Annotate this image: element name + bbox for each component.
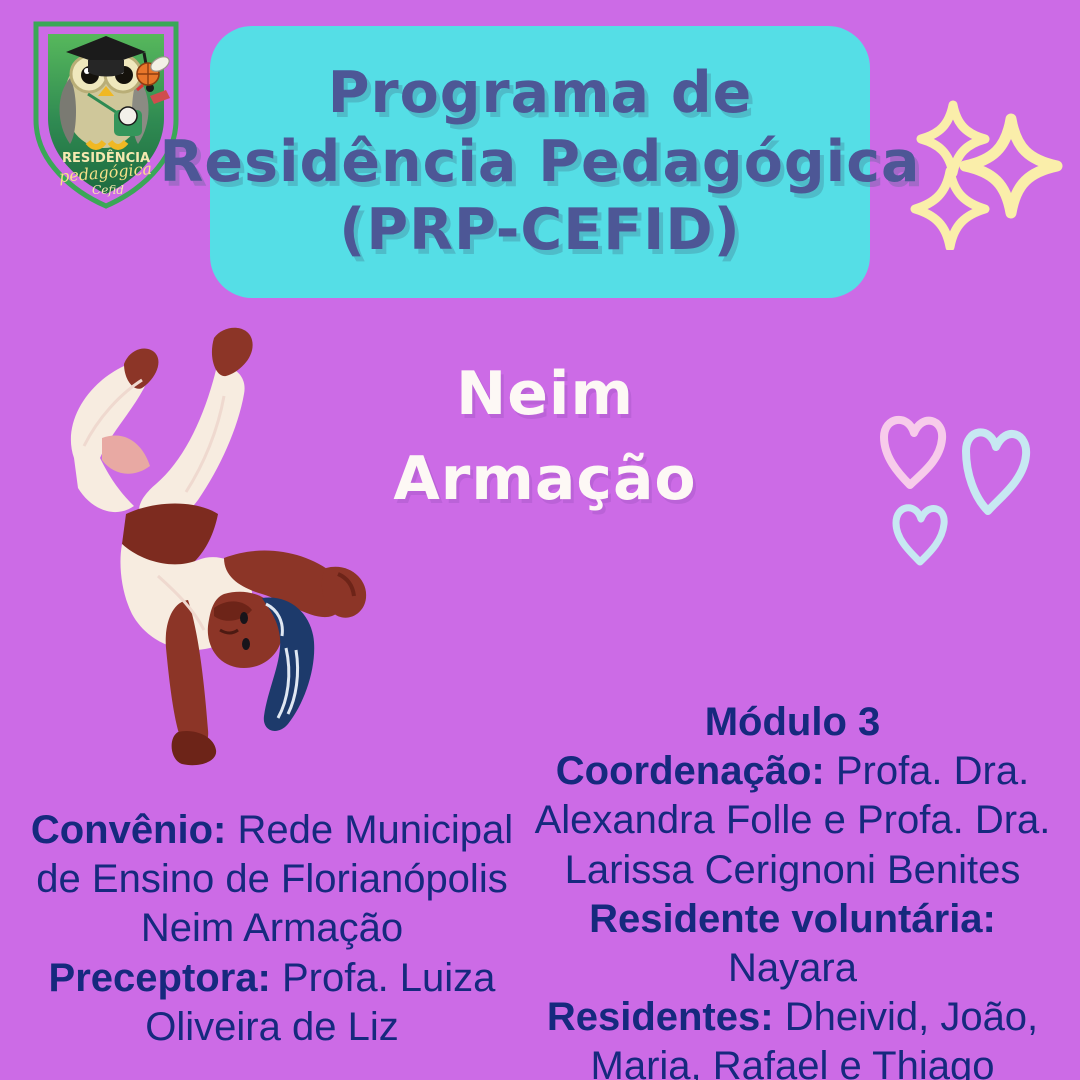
info-line-value: Oliveira de Liz [145,1005,398,1049]
info-block-left: Convênio: Rede Municipalde Ensino de Flo… [22,806,522,1052]
info-line: Preceptora: Profa. Luiza [22,954,522,1003]
dancer-leg-upper-right [139,367,244,523]
title-line-1: Programa de [160,59,921,127]
info-line-label: Preceptora: [49,956,271,1000]
subtitle: Neim Armação [330,352,760,522]
info-line-value: Profa. Luiza [271,956,496,1000]
info-line-value: Profa. Dra. [825,749,1030,793]
info-line-label: Residentes: [547,995,774,1039]
dancer-eye-upper [240,612,248,624]
sparkle-cluster-icon [905,95,1065,250]
info-line: Neim Armação [22,904,522,953]
sparkle-bottom-left-icon [915,171,985,247]
dancer-foot-right [212,328,253,376]
info-line-value: Rede Municipal [226,808,513,852]
info-line-value: Dheivid, João, [774,995,1039,1039]
title-line-2: Residência Pedagógica [160,128,921,196]
heart-pink-icon [884,420,942,485]
poster-canvas: RESIDÊNCIA pedagógica Cefid Programa de … [0,0,1080,1080]
heart-blue-large-icon [966,432,1026,511]
info-line: Oliveira de Liz [22,1003,522,1052]
info-line-label: Módulo 3 [705,700,881,744]
info-line-value: Nayara [728,946,857,990]
dancer-handstand-illustration [38,318,388,773]
dancer-eye-lower [242,638,250,650]
info-line-value: Larissa Cerignoni Benites [565,848,1021,892]
info-line-value: Maria, Rafael e Thiago [591,1044,995,1080]
subtitle-line-1: Neim [330,352,760,437]
info-line: Maria, Rafael e Thiago [530,1042,1055,1080]
heart-cluster-icon [862,405,1042,575]
info-line: Convênio: Rede Municipal [22,806,522,855]
page-title: Programa de Residência Pedagógica (PRP-C… [146,59,935,264]
info-line-label: Residente voluntária: [589,897,996,941]
info-line: de Ensino de Florianópolis [22,855,522,904]
info-line-value: Alexandra Folle e Profa. Dra. [535,798,1051,842]
info-line-label: Convênio: [31,808,227,852]
info-line: Coordenação: Profa. Dra. [530,747,1055,796]
subtitle-line-2: Armação [330,437,760,522]
dancer-hand-ground [172,731,217,765]
info-line: Larissa Cerignoni Benites [530,846,1055,895]
info-line-value: de Ensino de Florianópolis [36,857,507,901]
info-line: Residentes: Dheivid, João, [530,993,1055,1042]
soccer-ball-icon [119,107,137,125]
title-banner: Programa de Residência Pedagógica (PRP-C… [210,26,870,298]
info-line: Residente voluntária: Nayara [530,895,1055,993]
title-line-3: (PRP-CEFID) [160,196,921,264]
dancer-thigh-shade [102,436,150,474]
info-line: Módulo 3 [530,698,1055,747]
heart-blue-small-icon [896,508,944,562]
logo-line-3: Cefid [92,183,124,197]
info-line-value: Neim Armação [141,906,403,950]
info-block-right: Módulo 3Coordenação: Profa. Dra.Alexandr… [530,698,1055,1080]
info-line-label: Coordenação: [556,749,825,793]
info-line: Alexandra Folle e Profa. Dra. [530,796,1055,845]
